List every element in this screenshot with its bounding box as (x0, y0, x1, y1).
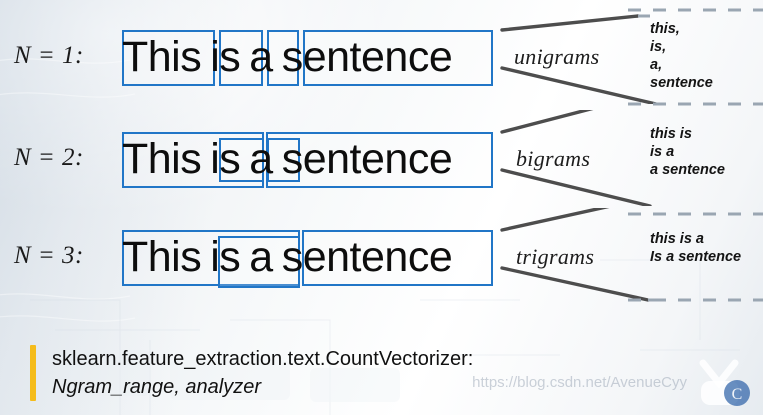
sentence-word: is (210, 228, 240, 286)
gram-item: is a (650, 143, 725, 161)
svg-text:C: C (732, 386, 743, 403)
gram-items-list: this is is a a sentence (650, 125, 725, 179)
footer-text-block: sklearn.feature_extraction.text.CountVec… (52, 345, 473, 401)
gram-item: Is a sentence (650, 248, 741, 266)
sentence-area: Thisisasentence (122, 130, 502, 190)
gram-type-label: unigrams (514, 44, 600, 70)
sentence-area: Thisisasentence (122, 228, 502, 288)
ngram-row-trigram: N = 3: Thisisasentence trigrams this is … (0, 208, 763, 304)
sentence-area: Thisisasentence (122, 28, 502, 88)
sentence-word: sentence (282, 228, 453, 286)
gram-item: this, (650, 20, 713, 38)
footer-accent-bar (30, 345, 36, 401)
sentence-word: a (249, 228, 272, 286)
gram-item: this is a (650, 230, 741, 248)
csdn-logo-icon: C (689, 357, 751, 407)
gram-item: sentence (650, 74, 713, 92)
gram-item: a sentence (650, 161, 725, 179)
gram-item: this is (650, 125, 725, 143)
ngram-row-unigram: N = 1: Thisisasentence unigrams this, is… (0, 8, 763, 104)
sentence-word: a (249, 130, 272, 188)
watermark-url: https://blog.csdn.net/AvenueCyy (472, 374, 687, 391)
gram-type-label: bigrams (516, 146, 590, 172)
gram-items-list: this is a Is a sentence (650, 230, 741, 266)
sentence-word: sentence (282, 130, 453, 188)
row-n-label: N = 3: (14, 242, 84, 270)
sentence-text: Thisisasentence (122, 130, 452, 190)
gram-items-list: this, is, a, sentence (650, 20, 713, 92)
sentence-word: is (210, 28, 240, 86)
slide-canvas: N = 1: Thisisasentence unigrams this, is… (0, 0, 763, 415)
footer-params: Ngram_range, analyzer (52, 374, 473, 401)
gram-item: is, (650, 38, 713, 56)
sentence-text: Thisisasentence (122, 228, 452, 288)
sentence-word: This (122, 228, 201, 286)
row-n-label: N = 1: (14, 42, 84, 70)
gram-item: a, (650, 56, 713, 74)
watermark: https://blog.csdn.net/AvenueCyy C (472, 357, 751, 407)
sentence-word: This (122, 28, 201, 86)
sentence-word: is (210, 130, 240, 188)
row-n-label: N = 2: (14, 144, 84, 172)
gram-type-label: trigrams (516, 244, 594, 270)
footer-api-path: sklearn.feature_extraction.text.CountVec… (52, 345, 473, 374)
sentence-word: sentence (282, 28, 453, 86)
footer-note: sklearn.feature_extraction.text.CountVec… (30, 345, 473, 401)
sentence-word: This (122, 130, 201, 188)
ngram-row-bigram: N = 2: Thisisasentence bigrams this is i… (0, 110, 763, 206)
sentence-text: Thisisasentence (122, 28, 452, 88)
sentence-word: a (249, 28, 272, 86)
